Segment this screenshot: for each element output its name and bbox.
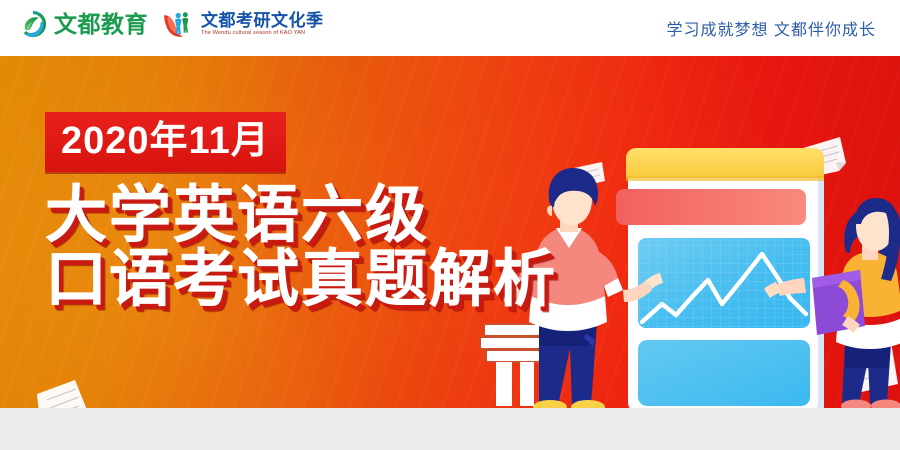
logo-wendu-education-label: 文都教育 — [54, 13, 148, 36]
banner-title-line-2: 口语考试真题解析 — [45, 248, 565, 312]
page-root: 文都教育 文都考研文化季 — [0, 0, 900, 450]
promo-banner[interactable]: 2020年11月 大学英语六级 口语考试真题解析 — [0, 56, 900, 408]
page-content-area — [0, 408, 900, 450]
logo-kaoyan-subtitle: The Wendu cultural season of KAO YAN — [201, 31, 326, 37]
banner-main-title: 大学英语六级 口语考试真题解析 — [45, 184, 565, 313]
site-header: 文都教育 文都考研文化季 — [0, 0, 900, 56]
wendu-leaf-circle-icon — [18, 9, 48, 39]
logo-kaoyan-text: 文都考研文化季 The Wendu cultural season of KAO… — [201, 12, 324, 37]
logo-kaoyan-label: 文都考研文化季 — [201, 12, 324, 29]
header-tagline: 学习成就梦想 文都伴你成长 — [667, 0, 876, 56]
banner-title-line-1: 大学英语六级 — [45, 184, 565, 248]
logo-kaoyan-season[interactable]: 文都考研文化季 The Wendu cultural season of KAO… — [162, 9, 324, 39]
logo-wendu-education[interactable]: 文都教育 — [18, 9, 148, 39]
date-badge: 2020年11月 — [45, 112, 286, 172]
banner-title-block: 2020年11月 大学英语六级 口语考试真题解析 — [45, 112, 565, 313]
logo-group: 文都教育 文都考研文化季 — [18, 9, 324, 39]
banner-right-vignette — [640, 56, 900, 408]
kaoyan-people-icon — [162, 9, 196, 39]
